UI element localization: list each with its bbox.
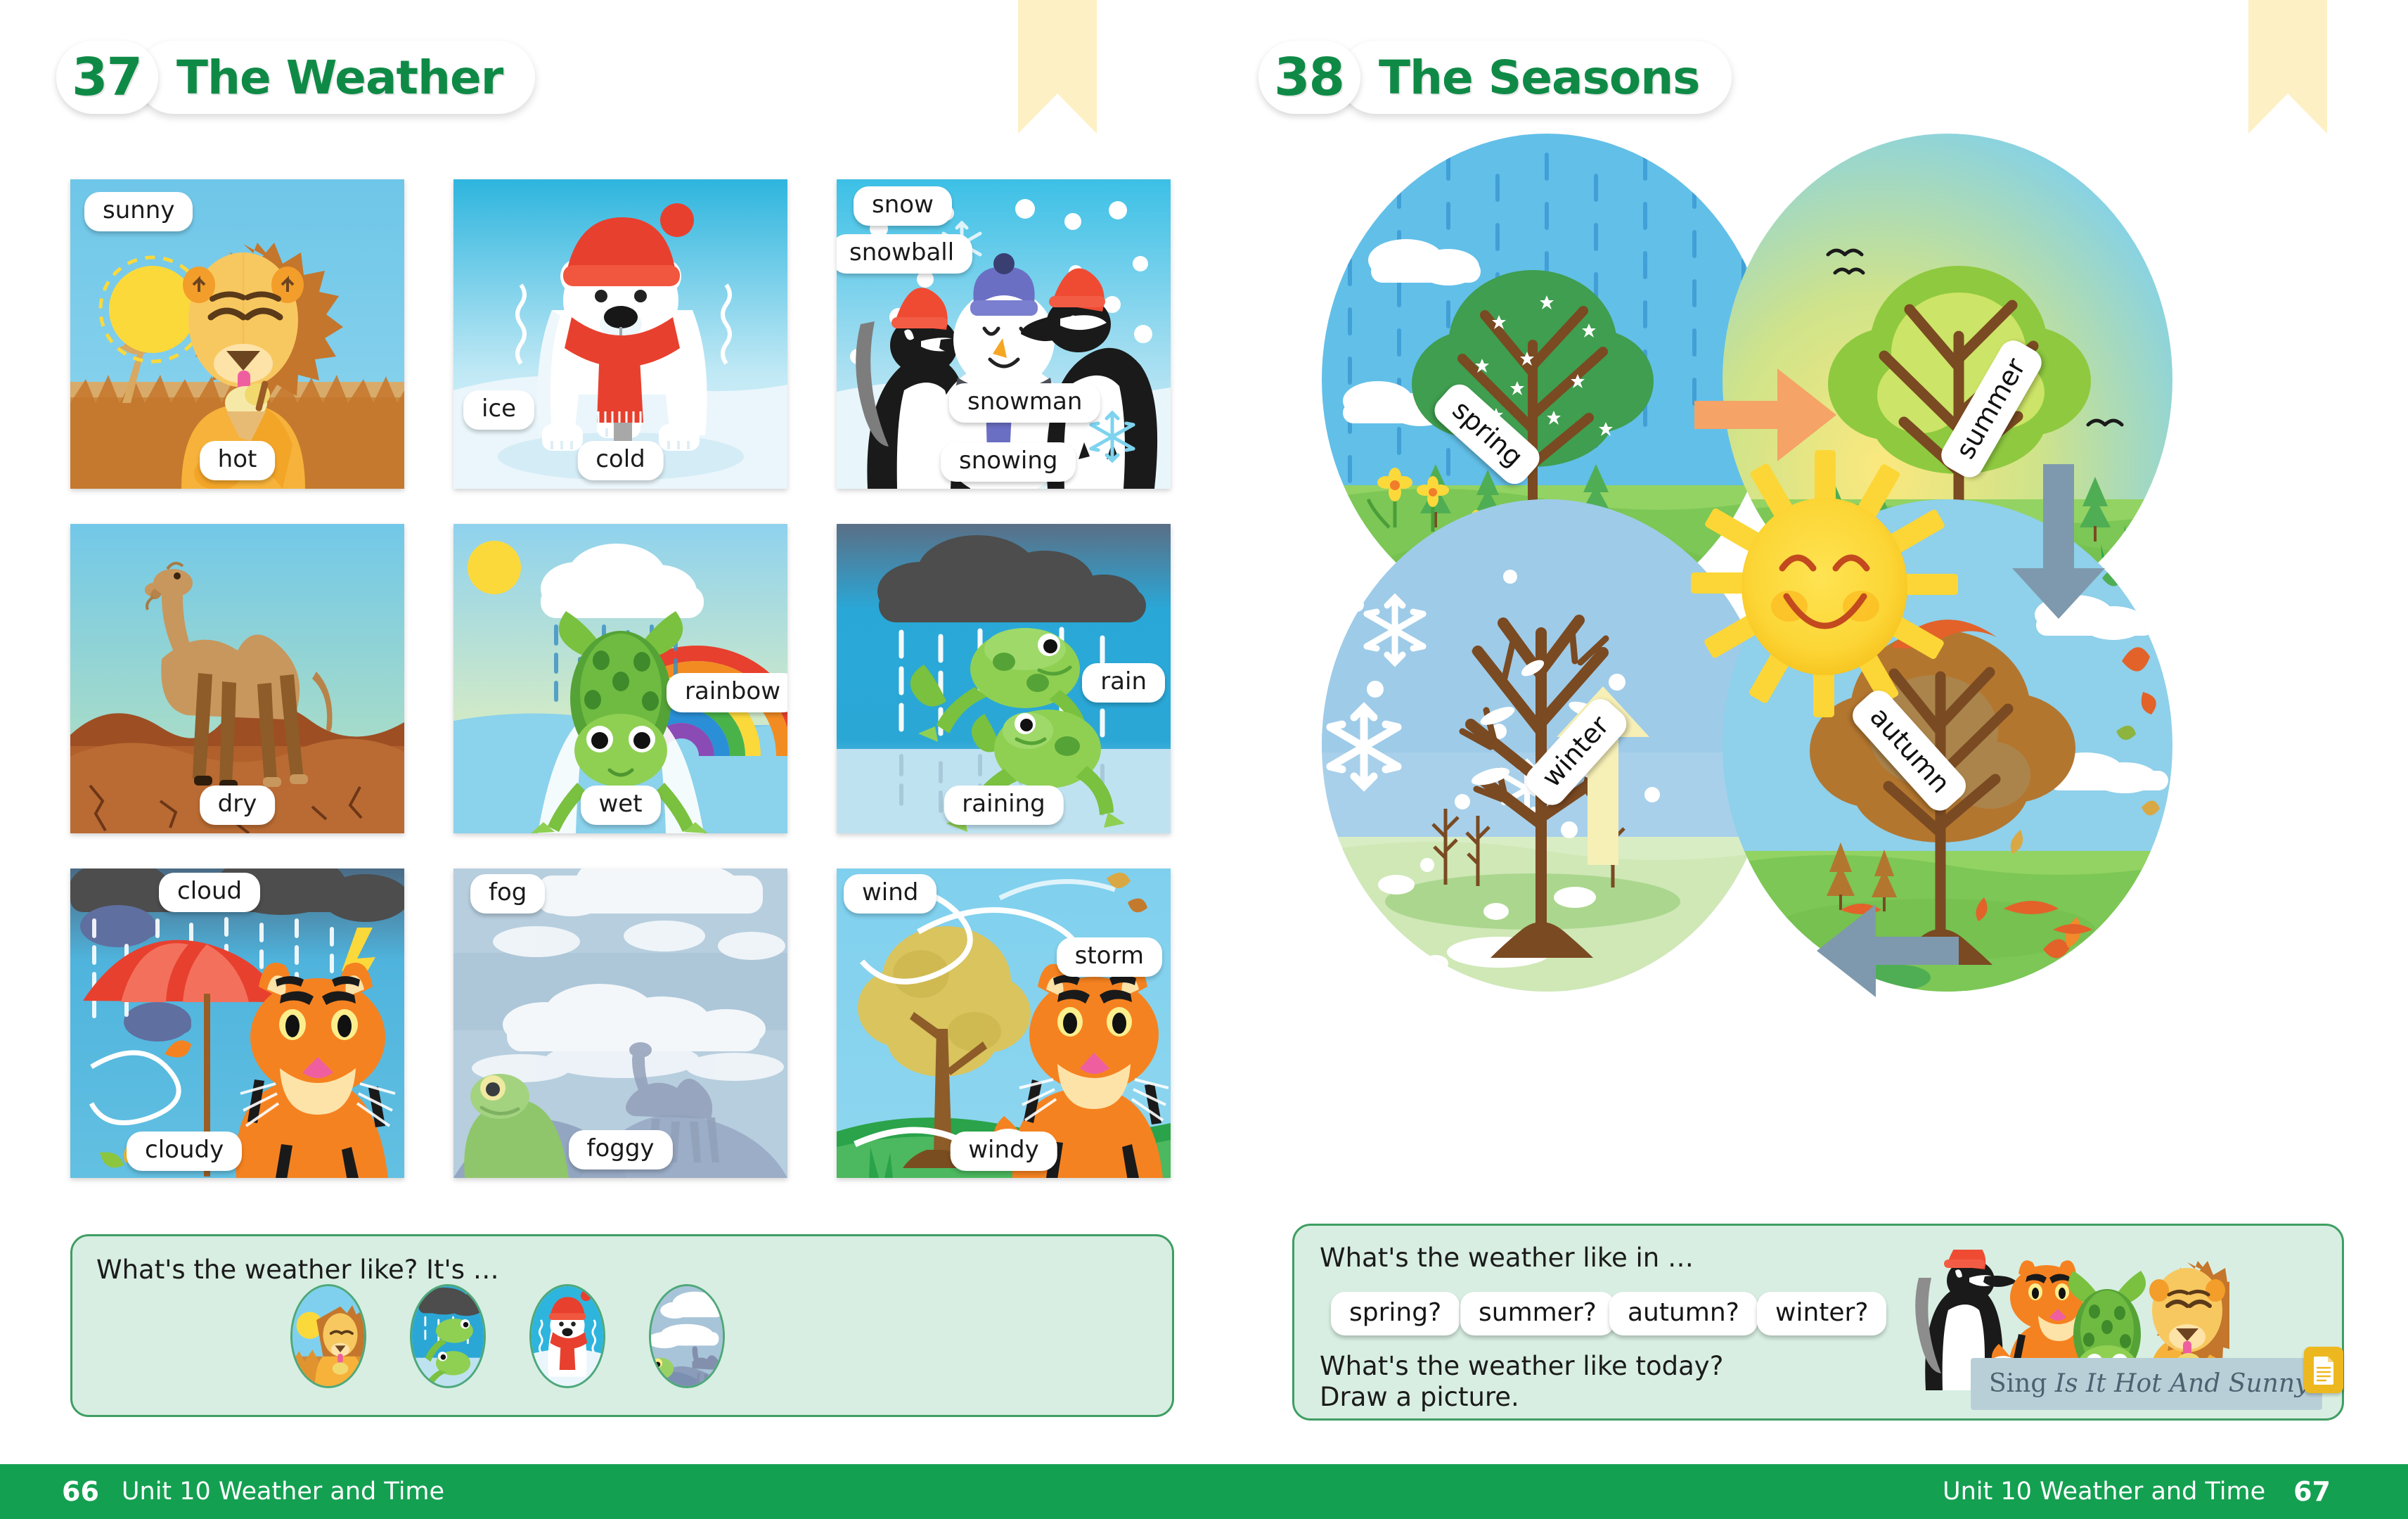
left-activity-question: What's the weather like? It's … [96,1255,499,1285]
word-label-foggy[interactable]: foggy [568,1130,672,1169]
thumb-cold-polar-bear[interactable] [529,1284,605,1388]
weather-card-sunny-hot[interactable]: sunny hot [70,179,404,489]
page-number-left: 66 [62,1476,99,1507]
unit-header-left: 37 The Weather [56,39,535,116]
unit-title-badge-left: The Weather [137,41,535,114]
thumb-raining-frogs[interactable] [410,1284,486,1388]
page-spread: 37 The Weather 38 The Seasons [0,0,2408,1519]
word-label-snowball[interactable]: snowball [837,234,972,274]
page-title-left: The Weather [176,51,503,105]
sing-song-bar[interactable]: Sing Is It Hot And Sunny? [1971,1358,2322,1410]
option-winter[interactable]: winter? [1757,1292,1886,1335]
seasons-diagram: spring summer winter autumn [1301,134,2355,1203]
worksheet-icon[interactable] [2304,1347,2343,1393]
sing-song-title: Is It Hot And Sunny? [2055,1369,2323,1398]
weather-card-dry[interactable]: dry [70,524,404,833]
word-label-snowing[interactable]: snowing [941,442,1076,482]
weather-card-rainbow-wet[interactable]: rainbow wet [453,524,787,833]
option-autumn[interactable]: autumn? [1609,1292,1758,1335]
unit-header-right: 38 The Seasons [1258,39,1732,116]
weather-card-fog-foggy[interactable]: fog foggy [453,869,787,1178]
document-glyph [2312,1355,2336,1385]
unit-number-left: 37 [72,47,141,108]
word-label-hot[interactable]: hot [200,441,276,480]
weather-card-snow[interactable]: snow snowball snowman snowing [837,179,1171,489]
bookmark-ribbon-left [1018,0,1097,134]
page-number-right: 67 [2293,1476,2331,1507]
word-label-fog[interactable]: fog [470,874,545,914]
weather-card-cloud-cloudy[interactable]: cloud cloudy [70,869,404,1178]
footer-unit-right: Unit 10 Weather and Time [1943,1478,2265,1506]
word-label-snowman[interactable]: snowman [949,383,1100,423]
word-label-wind[interactable]: wind [844,874,936,914]
word-label-snow[interactable]: snow [854,186,952,226]
bookmark-ribbon-right [2248,0,2327,134]
right-activity-question-2: What's the weather like today? [1320,1351,1723,1381]
tiger-umbrella-illustration [70,869,404,1178]
unit-title-badge-right: The Seasons [1339,41,1732,114]
right-activity-panel: What's the weather like in … spring? sum… [1292,1224,2344,1421]
left-activity-panel: What's the weather like? It's … [70,1234,1174,1417]
word-label-cold[interactable]: cold [577,441,664,480]
option-spring[interactable]: spring? [1331,1292,1460,1335]
weather-card-wind-windy[interactable]: wind storm windy [837,869,1171,1178]
thumb-sunny-lion[interactable] [290,1284,366,1388]
word-label-windy[interactable]: windy [950,1132,1057,1171]
page-title-right: The Seasons [1379,51,1699,105]
sing-prefix: Sing [1989,1369,2055,1398]
word-label-wet[interactable]: wet [580,786,660,825]
sun-center [1684,443,1965,724]
weather-card-ice-cold[interactable]: ice cold [453,179,787,489]
word-label-raining[interactable]: raining [944,786,1063,825]
footer-unit-left: Unit 10 Weather and Time [122,1478,444,1506]
unit-number-right: 38 [1274,47,1344,108]
word-label-rainbow[interactable]: rainbow [667,673,787,712]
footer-left: 66 Unit 10 Weather and Time [0,1464,1204,1519]
thumb-foggy-hills[interactable] [649,1284,725,1388]
word-label-storm[interactable]: storm [1057,937,1162,977]
right-activity-instruction: Draw a picture. [1320,1382,1519,1412]
unit-number-badge-right: 38 [1258,41,1360,114]
weather-card-grid: sunny hot [70,179,1174,1178]
option-summer[interactable]: summer? [1460,1292,1615,1335]
word-label-dry[interactable]: dry [200,786,276,825]
word-label-sunny[interactable]: sunny [84,192,193,231]
weather-card-rain-raining[interactable]: rain raining [837,524,1171,833]
word-label-cloudy[interactable]: cloudy [127,1132,242,1171]
sing-label: Sing Is It Hot And Sunny? [1989,1369,2323,1398]
word-label-ice[interactable]: ice [463,390,534,430]
word-label-rain[interactable]: rain [1082,663,1165,703]
right-activity-question-1: What's the weather like in … [1320,1243,1694,1273]
word-label-cloud[interactable]: cloud [159,873,260,912]
unit-number-badge-left: 37 [56,41,158,114]
footer-right: Unit 10 Weather and Time 67 [1204,1464,2408,1519]
